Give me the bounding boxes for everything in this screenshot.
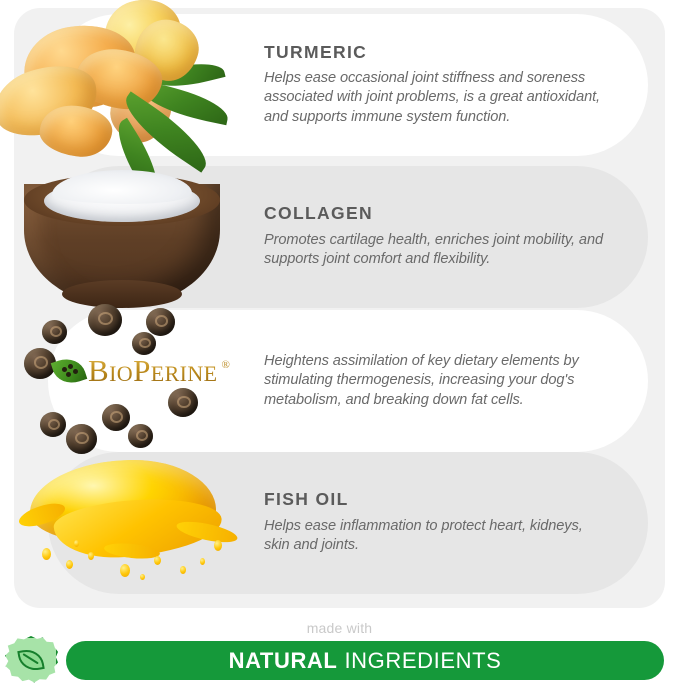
card-text-turmeric: TURMERIC Helps ease occasional joint sti… (264, 14, 604, 156)
pea-pod-icon (54, 358, 84, 384)
made-with-label: made with (0, 620, 679, 636)
ingredient-card-collagen: COLLAGEN Promotes cartilage health, enri… (48, 166, 648, 308)
ingredient-benefits-infographic: TURMERIC Helps ease occasional joint sti… (0, 0, 679, 685)
registered-trademark-icon: ® (222, 359, 230, 371)
card-title-fish-oil: FISH OIL (264, 490, 604, 509)
leaf-badge-icon (4, 636, 58, 684)
ingredient-card-turmeric: TURMERIC Helps ease occasional joint sti… (48, 14, 648, 156)
bioperine-logo: BioPerine ® (54, 355, 230, 386)
card-title-turmeric: TURMERIC (264, 43, 604, 62)
card-description-fish-oil: Helps ease inflammation to protect heart… (264, 517, 604, 556)
banner-ingredients-text: INGREDIENTS (344, 648, 501, 674)
card-text-collagen: COLLAGEN Promotes cartilage health, enri… (264, 166, 604, 308)
card-description-bioperine: Heightens assimilation of key dietary el… (264, 352, 604, 410)
card-title-collagen: COLLAGEN (264, 204, 604, 223)
bioperine-wordmark: BioPerine (88, 355, 218, 386)
card-description-turmeric: Helps ease occasional joint stiffness an… (264, 69, 604, 127)
card-text-fish-oil: FISH OIL Helps ease inflammation to prot… (264, 452, 604, 594)
card-description-collagen: Promotes cartilage health, enriches join… (264, 231, 604, 270)
card-text-bioperine: Heightens assimilation of key dietary el… (264, 310, 604, 452)
natural-ingredients-banner: NATURAL INGREDIENTS (66, 641, 664, 680)
banner-natural-text: NATURAL (229, 648, 338, 674)
ingredient-card-fish-oil: FISH OIL Helps ease inflammation to prot… (48, 452, 648, 594)
